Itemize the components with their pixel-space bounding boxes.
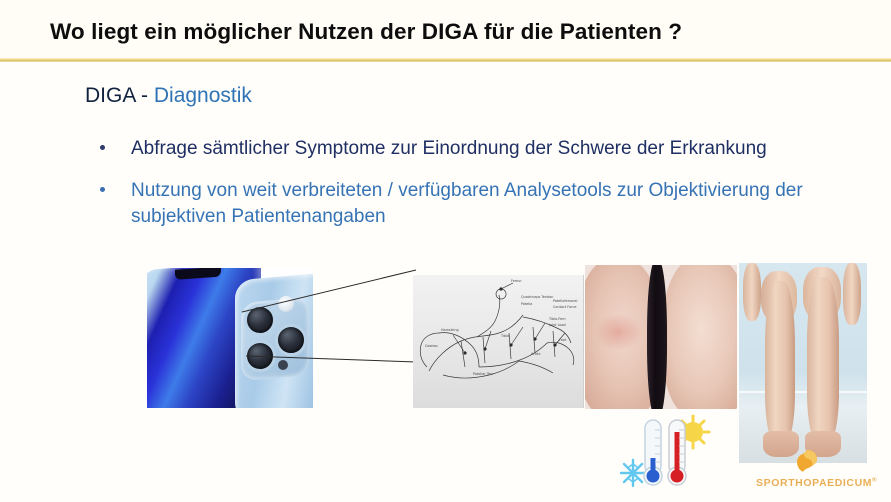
thermometer-hot-icon bbox=[668, 420, 686, 485]
bullet-text: Nutzung von weit verbreiteten / verfügba… bbox=[131, 178, 863, 230]
biomechanics-diagram: Femur Quadriceps Tendon Patella Patellof… bbox=[413, 275, 584, 408]
svg-text:Patella: Patella bbox=[521, 302, 532, 306]
brand-logo: SPORTHOPAEDICUM® bbox=[754, 448, 888, 502]
list-item: Abfrage sämtlicher Symptome zur Einordnu… bbox=[93, 136, 863, 162]
svg-text:Tibia: Tibia bbox=[500, 334, 509, 338]
subtitle-accent: Diagnostik bbox=[154, 84, 252, 107]
snowflake-icon bbox=[621, 460, 645, 486]
slide-root: Wo liegt ein möglicher Nutzen der DIGA f… bbox=[0, 0, 891, 502]
knee-redness bbox=[595, 313, 643, 351]
knee-gap-shadow bbox=[647, 265, 667, 409]
lower-leg-right bbox=[807, 277, 839, 441]
logo-trademark: ® bbox=[872, 478, 877, 484]
lower-leg-left bbox=[765, 281, 795, 441]
bullet-dot-icon bbox=[100, 145, 105, 150]
floor-line bbox=[739, 391, 867, 393]
svg-text:Ankle: Ankle bbox=[531, 352, 540, 356]
svg-text:Joint Load: Joint Load bbox=[548, 323, 566, 327]
knees-photo bbox=[585, 265, 737, 409]
bullet-list: Abfrage sämtlicher Symptome zur Einordnu… bbox=[93, 136, 863, 246]
title-divider bbox=[0, 58, 891, 62]
bullet-dot-icon bbox=[100, 187, 105, 192]
svg-text:Femur: Femur bbox=[511, 279, 522, 283]
title-bar: Wo liegt ein möglicher Nutzen der DIGA f… bbox=[0, 0, 891, 60]
diagram-linework: Femur Quadriceps Tendon Patella Patellof… bbox=[413, 275, 583, 408]
arm-left bbox=[743, 263, 761, 321]
bullet-text: Abfrage sämtlicher Symptome zur Einordnu… bbox=[131, 136, 863, 162]
svg-text:Hamstring: Hamstring bbox=[441, 328, 459, 332]
section-subtitle: DIGA - Diagnostik bbox=[85, 84, 252, 108]
list-item: Nutzung von weit verbreiteten / verfügba… bbox=[93, 178, 863, 230]
arm-right bbox=[843, 263, 861, 325]
page-title: Wo liegt ein möglicher Nutzen der DIGA f… bbox=[50, 19, 682, 45]
logo-mark-icon bbox=[794, 448, 820, 474]
svg-text:Contact Force: Contact Force bbox=[553, 305, 576, 309]
legs-photo bbox=[739, 263, 867, 463]
svg-text:Patellar Ten.: Patellar Ten. bbox=[473, 372, 494, 376]
svg-text:Gastroc: Gastroc bbox=[425, 344, 438, 348]
subtitle-main: DIGA - bbox=[85, 84, 154, 107]
connector-lines bbox=[230, 264, 420, 384]
thermometer-cold-icon bbox=[644, 420, 662, 485]
svg-text:Foot: Foot bbox=[559, 338, 567, 342]
logo-wordmark: SPORTHOPAEDICUM bbox=[756, 477, 872, 489]
thermometers-graphic bbox=[617, 414, 721, 492]
phone-notch bbox=[175, 268, 221, 280]
logo-text: SPORTHOPAEDICUM® bbox=[756, 477, 877, 489]
svg-text:Quadriceps Tendon: Quadriceps Tendon bbox=[521, 295, 553, 299]
svg-text:Tibio-Fem: Tibio-Fem bbox=[548, 317, 566, 321]
svg-text:Patellofemoral: Patellofemoral bbox=[553, 299, 577, 303]
knee-right bbox=[663, 265, 737, 409]
